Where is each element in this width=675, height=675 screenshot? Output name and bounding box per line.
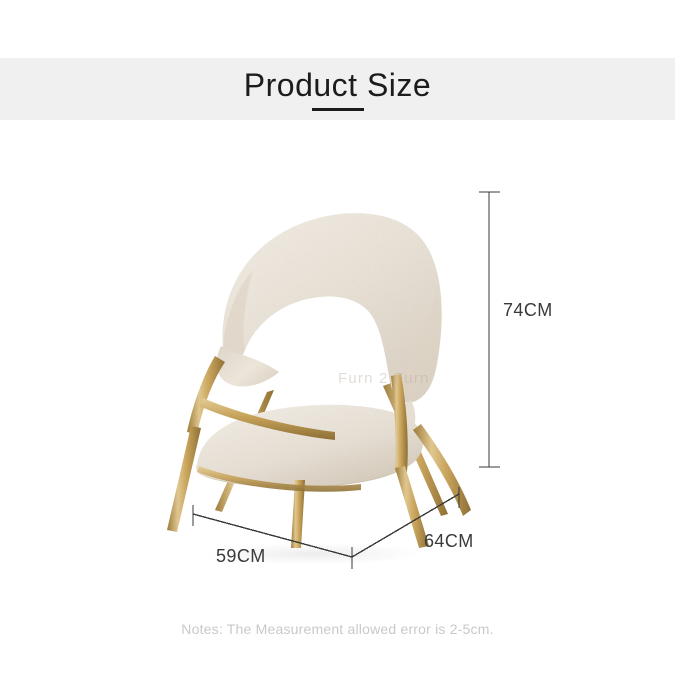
dimension-label-height: 74CM xyxy=(503,301,553,319)
product-image-stage: Furn 2 Furn xyxy=(0,120,675,675)
measurement-note: Notes: The Measurement allowed error is … xyxy=(0,622,675,636)
dimension-label-width: 59CM xyxy=(216,547,266,565)
page-title: Product Size xyxy=(0,69,675,101)
product-size-infographic: Product Size xyxy=(0,0,675,675)
chair-product-image xyxy=(145,180,475,580)
dimension-label-depth: 64CM xyxy=(424,532,474,550)
title-underline-accent xyxy=(312,108,364,111)
